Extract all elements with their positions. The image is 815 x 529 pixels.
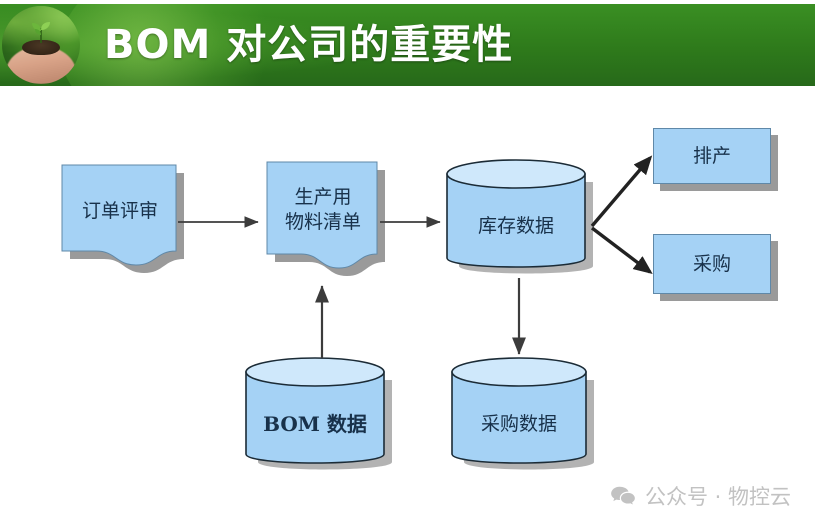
cylinder-shape <box>448 354 606 480</box>
node-bom-data[interactable]: BOM 数据 <box>240 354 404 480</box>
cylinder-shape <box>443 154 607 284</box>
header-banner: BOM 对公司的重要性 <box>0 4 815 86</box>
cylinder-shape <box>240 354 404 480</box>
node-face <box>653 234 771 294</box>
node-purchasing[interactable]: 采购 <box>653 234 771 294</box>
page-title: BOM 对公司的重要性 <box>104 18 513 72</box>
document-shape <box>265 158 393 286</box>
diagram-canvas: 订单评审 生产用 物料清单 库存数据 排产 采购 <box>0 86 815 529</box>
wechat-icon <box>610 485 636 507</box>
node-production-bom[interactable]: 生产用 物料清单 <box>265 158 393 286</box>
node-inventory-data[interactable]: 库存数据 <box>443 154 607 284</box>
sprout-icon <box>28 18 54 44</box>
node-purchasing-data[interactable]: 采购数据 <box>448 354 606 480</box>
watermark: 公众号 · 物控云 <box>610 481 791 511</box>
node-face <box>653 128 771 184</box>
node-production-plan[interactable]: 排产 <box>653 128 771 184</box>
document-shape <box>60 161 192 283</box>
watermark-text: 公众号 · 物控云 <box>645 481 791 511</box>
node-order-review[interactable]: 订单评审 <box>60 161 192 283</box>
seedling-in-hand-photo-icon <box>2 6 80 84</box>
